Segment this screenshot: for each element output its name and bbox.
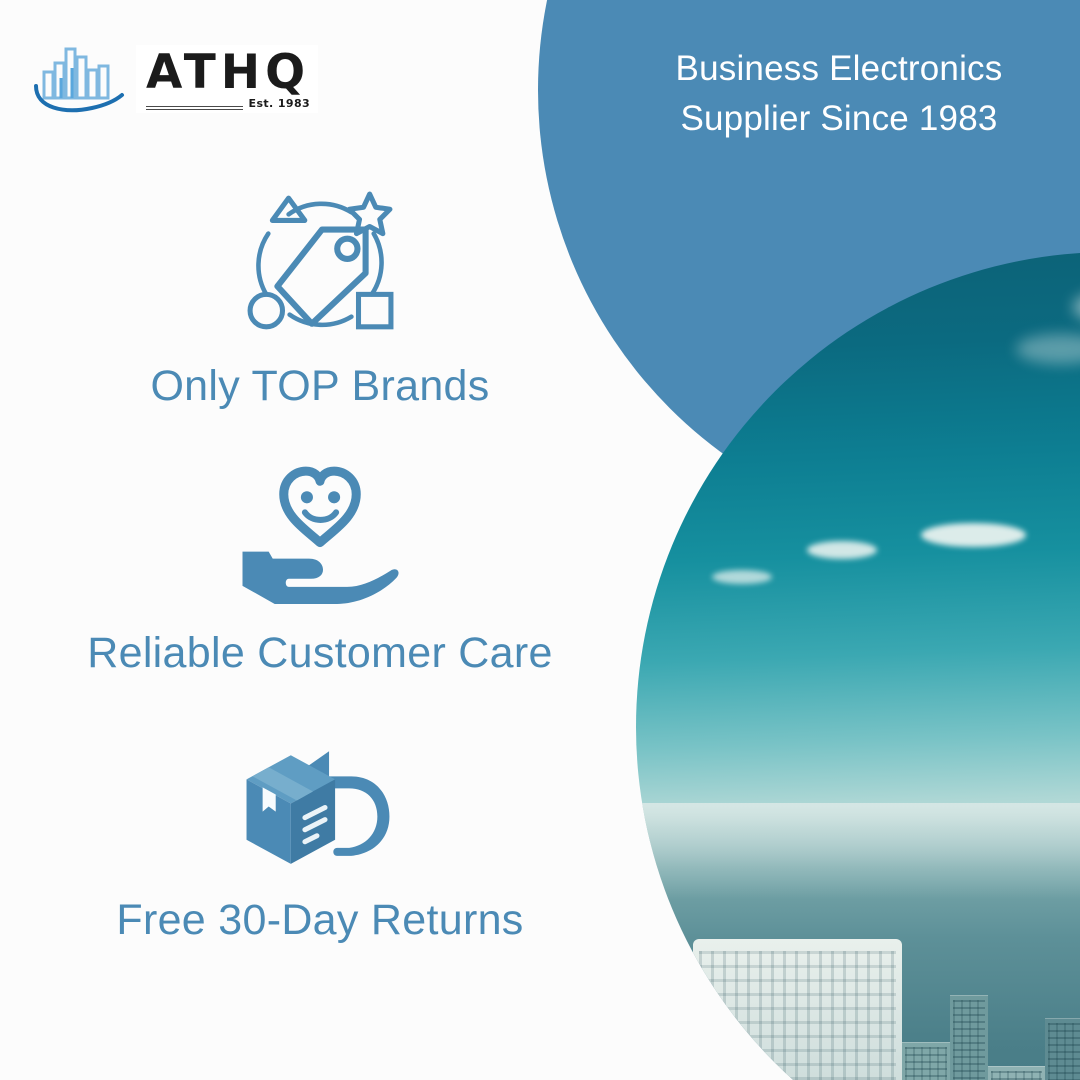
brand-logo[interactable]: ATHQ Est. 1983 [30,40,318,118]
skyline-bars-swoosh-icon [30,40,126,118]
logo-rule-row: Est. 1983 [146,97,310,110]
feature-item-brands: Only TOP Brands [150,190,489,411]
header-tagline: Business Electronics Supplier Since 1983 [624,44,1054,143]
feature-item-returns: Free 30-Day Returns [116,724,523,945]
heart-in-hand-icon [234,457,406,607]
logo-divider-rule [146,106,243,110]
feature-list: Only TOP Brands Reliable Customer Care [0,190,640,945]
logo-wordmark-block: ATHQ Est. 1983 [136,45,318,114]
sky-gradient [636,252,1080,841]
logo-established-text: Est. 1983 [249,97,311,110]
feature-label-brands: Only TOP Brands [150,362,489,411]
city-skyline-photo [636,252,1080,1080]
feature-label-returns: Free 30-Day Returns [116,896,523,945]
price-tag-brands-icon [238,190,402,340]
cityscape [636,803,1080,1080]
return-package-arrow-icon [232,724,409,874]
promo-graphic-canvas: Business Electronics Supplier Since 1983 [0,0,1080,1080]
tagline-line-1: Business Electronics [624,44,1054,94]
feature-label-customer-care: Reliable Customer Care [87,629,552,678]
tagline-line-2: Supplier Since 1983 [624,94,1054,144]
feature-item-customer-care: Reliable Customer Care [87,457,552,678]
logo-wordmark: ATHQ [146,49,310,97]
